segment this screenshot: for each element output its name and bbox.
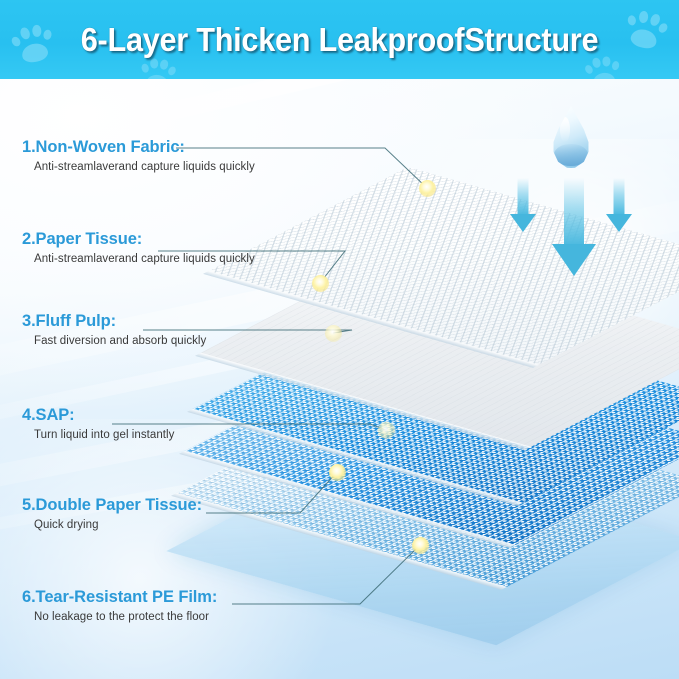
layer-label-3: 3.Fluff Pulp: Fast diversion and absorb … <box>22 312 206 347</box>
glow-dot <box>412 537 429 554</box>
glow-dot <box>325 325 342 342</box>
layer-label-4-title: 4.SAP: <box>22 406 174 425</box>
glow-dot <box>378 422 395 439</box>
infographic-root: 6-Layer Thicken LeakproofStructure <box>0 0 679 679</box>
layer-label-2-title: 2.Paper Tissue: <box>22 230 255 249</box>
layer-label-2-subtitle: Anti-streamlaverand capture liquids quic… <box>34 253 255 265</box>
glow-dot <box>419 180 436 197</box>
layer-label-4-subtitle: Turn liquid into gel instantly <box>34 429 174 441</box>
glow-dot <box>329 464 346 481</box>
layer-label-1-subtitle: Anti-streamlaverand capture liquids quic… <box>34 161 255 173</box>
layer-label-5-title: 5.Double Paper Tissue: <box>22 496 202 515</box>
layer-label-1-title: 1.Non-Woven Fabric: <box>22 138 255 157</box>
layer-label-5-subtitle: Quick drying <box>34 519 202 531</box>
layer-label-1: 1.Non-Woven Fabric: Anti-streamlaverand … <box>22 138 255 173</box>
layer-label-6-title: 6.Tear-Resistant PE Film: <box>22 588 217 607</box>
layer-label-5: 5.Double Paper Tissue: Quick drying <box>22 496 202 531</box>
layer-label-2: 2.Paper Tissue: Anti-streamlaverand capt… <box>22 230 255 265</box>
layer-label-6-subtitle: No leakage to the protect the floor <box>34 611 217 623</box>
layer-label-6: 6.Tear-Resistant PE Film: No leakage to … <box>22 588 217 623</box>
glow-dot <box>312 275 329 292</box>
layer-label-4: 4.SAP: Turn liquid into gel instantly <box>22 406 174 441</box>
layer-label-3-subtitle: Fast diversion and absorb quickly <box>34 335 206 347</box>
layer-label-3-title: 3.Fluff Pulp: <box>22 312 206 331</box>
